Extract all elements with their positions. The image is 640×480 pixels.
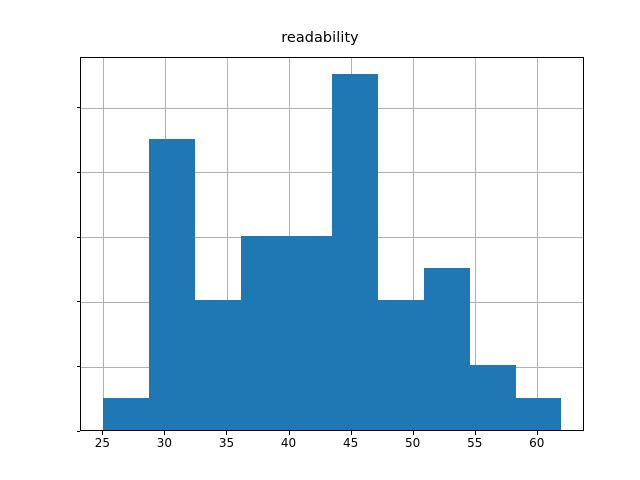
histogram-bar [332,74,378,430]
figure-canvas: readability 2530354045505560 0246810 [0,0,640,480]
histogram-bar [287,236,333,430]
x-tick-mark [351,431,352,435]
x-tick-label: 55 [467,436,482,450]
histogram-bar [103,398,149,430]
x-tick-label: 45 [343,436,358,450]
x-tick-label: 50 [405,436,420,450]
x-tick-mark [164,431,165,435]
histogram-bar [424,268,470,430]
x-tick-mark [289,431,290,435]
x-tick-label: 40 [281,436,296,450]
histogram-bar [195,300,241,430]
histogram-bar [149,139,195,430]
x-tick-label: 30 [157,436,172,450]
x-tick-mark [226,431,227,435]
x-tick-mark [475,431,476,435]
x-tick-mark [537,431,538,435]
x-tick-label: 35 [219,436,234,450]
x-tick-label: 25 [95,436,110,450]
x-tick-mark [102,431,103,435]
gridline-vertical-25 [103,58,104,430]
histogram-bar [516,398,562,430]
plot-area [80,57,584,431]
chart-title: readability [0,30,640,47]
gridline-vertical-60 [537,58,538,430]
x-tick-label: 60 [529,436,544,450]
histogram-bar [378,300,424,430]
histogram-bar [470,365,516,430]
histogram-bar [241,236,287,430]
x-tick-mark [413,431,414,435]
y-tick-mark [77,431,81,432]
